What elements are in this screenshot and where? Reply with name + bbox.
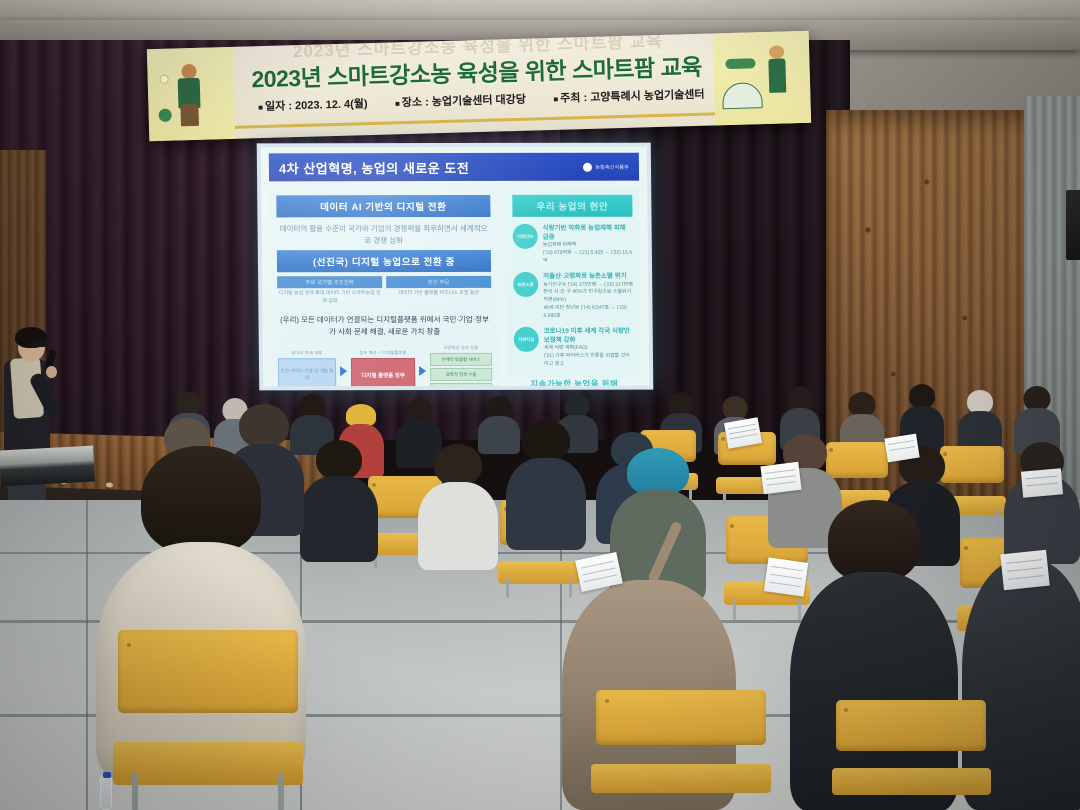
chair-seat xyxy=(832,768,991,794)
banner-underline xyxy=(235,112,715,128)
attendee-body xyxy=(418,482,498,570)
handout-paper[interactable] xyxy=(764,557,808,596)
bottle-cap-icon xyxy=(103,772,111,778)
left-panel-subheader: (선진국) 디지털 농업으로 전환 중 xyxy=(277,250,491,272)
chair-foreground-left[interactable] xyxy=(118,630,298,810)
subbox-header: 주요 국가별 추진전략 xyxy=(277,276,382,288)
flower-icon xyxy=(160,75,169,84)
bullet-body: 식량기반 악화로 농업재해 피해 급증 농업재해 피해액 ('19) 679억원… xyxy=(543,224,633,266)
projection-screen: 4차 산업혁명, 농업의 새로운 도전 농림축산식품부 데이터 AI 기반의 디… xyxy=(257,143,654,391)
bullet-icon: 식량자급 xyxy=(514,327,539,352)
event-banner: 2023년 스마트강소농 육성을 위한 스마트팜 교육 2023년 스마트강소농… xyxy=(147,31,811,141)
bullet-body: 저출산·고령화로 농촌소멸 위기 농가인구수 ('14) 275만명 → ('2… xyxy=(543,272,634,320)
water-bottle[interactable] xyxy=(100,776,112,810)
bullet-line: ('19) 679억원 → ('21) 5,425 → ('22) 15,4억 xyxy=(543,250,633,266)
bullet-line: 농업재해 피해액 xyxy=(543,242,633,250)
flow-step-1: 데이터 연계·개방 민관 데이터 연결 및 개방 확대 xyxy=(278,350,336,386)
right-panel-bullet: 농촌소멸 저출산·고령화로 농촌소멸 위기 농가인구수 ('14) 275만명 … xyxy=(513,272,634,320)
subbox-body: 디지털 농업 정책 확대 데이터 기반 스마트농업 정책 강화 xyxy=(277,288,382,307)
flow-caption-2: 정부 혁신 + 디지털플랫폼 xyxy=(351,350,415,356)
farmer2-body-icon xyxy=(768,58,786,92)
chair-leg xyxy=(132,774,138,810)
glasses-icon xyxy=(29,341,46,347)
bullet-marker-icon: ■ xyxy=(258,103,263,112)
bullet-title: 코로나19 이후 세계 각국 식량안보정책 강화 xyxy=(544,327,634,345)
attendee xyxy=(958,390,1002,454)
flow-step-2: 정부 혁신 + 디지털플랫폼 디지털 플랫폼 정부 xyxy=(351,350,415,387)
flow-step-3: 국민체감 성과 창출 선제적 맞춤형 서비스 과학적 정책 수립 혁신적 비즈니… xyxy=(430,345,493,386)
attendee xyxy=(300,440,378,560)
government-logo: 농림축산식품부 xyxy=(583,162,629,171)
flow-box-2: 디지털 플랫폼 정부 xyxy=(351,358,415,387)
chair-leg xyxy=(996,510,999,526)
yellow-cap-icon xyxy=(346,404,376,426)
slide: 4차 산업혁명, 농업의 새로운 도전 농림축산식품부 데이터 AI 기반의 디… xyxy=(261,147,650,387)
subbox: 주요 국가별 추진전략 디지털 농업 정책 확대 데이터 기반 스마트농업 정책… xyxy=(277,276,382,307)
attendee-head xyxy=(828,500,920,582)
bullet-marker-icon: ■ xyxy=(395,99,400,108)
attendee-head xyxy=(141,446,261,554)
banner-detail-host: ■주최 : 고양특례시 농업기술센터 xyxy=(553,86,705,106)
farmer-legs-icon xyxy=(180,104,199,126)
slide-title: 4차 산업혁명, 농업의 새로운 도전 xyxy=(279,157,469,176)
tree-icon xyxy=(159,109,172,122)
chair-foreground-right[interactable] xyxy=(836,700,986,810)
attendee-head xyxy=(316,440,362,480)
logo-text: 농림축산식품부 xyxy=(595,163,629,170)
flow-box-3-item: 선제적 맞춤형 서비스 xyxy=(430,353,492,366)
subbox: 민간 부문 데이터 기반 플랫폼 비즈니스 모델 등장 xyxy=(386,276,491,307)
flow-arrow-icon xyxy=(419,366,426,376)
flow-box-3-item: 과학적 정책 수립 xyxy=(430,368,492,381)
attendee-body xyxy=(506,458,586,550)
slide-body: 데이터 AI 기반의 디지털 전환 데이터의 활용 수준이 국가와 기업의 경쟁… xyxy=(269,187,641,379)
chair-back xyxy=(118,630,298,713)
lectern xyxy=(0,446,95,487)
bullet-body: 코로나19 이후 세계 각국 식량안보정책 강화 세계 식량 계획(FAO) (… xyxy=(544,327,634,369)
slide-title-bar: 4차 산업혁명, 농업의 새로운 도전 농림축산식품부 xyxy=(269,153,639,182)
chair-seat xyxy=(591,764,771,793)
crops-icon xyxy=(725,58,755,69)
handout-paper[interactable] xyxy=(1021,468,1063,497)
bullet-line: ('21) 기후 바이러스가 인류를 위협할 것이라고 경고 xyxy=(544,353,634,369)
chair-leg xyxy=(506,578,509,598)
chair-leg xyxy=(723,490,726,504)
attendee-head xyxy=(434,444,482,486)
attendee xyxy=(418,444,498,568)
subbox-body: 데이터 기반 플랫폼 비즈니스 모델 등장 xyxy=(386,288,491,300)
bullet-marker-icon: ■ xyxy=(553,94,558,103)
right-panel-bullet: 식량자급 코로나19 이후 세계 각국 식량안보정책 강화 세계 식량 계획(F… xyxy=(514,327,634,369)
handout-paper[interactable] xyxy=(1000,550,1050,591)
bullet-icon: 식량안보 xyxy=(513,224,538,249)
banner-detail-date: ■일자 : 2023. 12. 4(월) xyxy=(258,95,368,114)
chair-leg xyxy=(278,774,284,810)
closing-line-1: 지속가능한 농업을 위해 xyxy=(514,377,634,386)
bullet-title: 식량기반 악화로 농업재해 피해 급증 xyxy=(543,224,633,242)
attendee-head xyxy=(522,420,570,462)
bullet-title: 저출산·고령화로 농촌소멸 위기 xyxy=(543,272,633,281)
greenhouse-icon xyxy=(722,82,763,109)
teal-beret-icon xyxy=(627,448,689,496)
flow-box-3-item: 혁신적 비즈니스 창출 xyxy=(430,383,492,386)
chair-foreground-center[interactable] xyxy=(596,690,766,810)
left-panel-header: 데이터 AI 기반의 디지털 전환 xyxy=(276,195,490,217)
flow-arrow-icon xyxy=(340,366,347,376)
slide-right-panel: 우리 농업의 현안 식량안보 식량기반 악화로 농업재해 피해 급증 농업재해 … xyxy=(505,187,641,378)
banner-detail-place: ■장소 : 농업기술센터 대강당 xyxy=(395,91,526,111)
bullet-line: 40세 미만 청년농 ('14) 8,547호 → ('19) 6,895호 xyxy=(543,304,633,320)
attendee xyxy=(1004,442,1080,562)
wall-speaker xyxy=(1066,190,1080,260)
bullet-line: 전국 시·군·구 46%가 인구감소로 소멸위기 직면(84%) xyxy=(543,289,633,305)
lecture-hall-photo: 2023년 스마트강소농 육성을 위한 스마트팜 교육 2023년 스마트강소농… xyxy=(0,0,1080,810)
subbox-header: 민간 부문 xyxy=(386,276,491,288)
chair-back xyxy=(596,690,766,745)
left-panel-note: (우리) 모든 데이터가 연결되는 디지털플랫폼 위에서 국민·기업·정부가 사… xyxy=(277,314,491,338)
presenter-hand xyxy=(46,366,57,378)
right-panel-header: 우리 농업의 현안 xyxy=(512,195,632,217)
attendee xyxy=(506,420,586,548)
attendee-head xyxy=(239,404,289,448)
flow-diagram: 데이터 연계·개방 민관 데이터 연결 및 개방 확대 정부 혁신 + 디지털플… xyxy=(278,345,493,386)
flow-box-1: 민관 데이터 연결 및 개방 확대 xyxy=(278,358,336,386)
chair-seat xyxy=(113,742,304,785)
handout-paper[interactable] xyxy=(884,434,919,463)
flow-caption-3: 국민체감 성과 창출 xyxy=(430,345,492,351)
bullet-icon: 농촌소멸 xyxy=(513,272,538,297)
logo-mark-icon xyxy=(583,162,592,171)
right-panel-closing: 지속가능한 농업을 위해 빅데이터 AI가 유력한 대안으로 부상 xyxy=(514,377,634,386)
left-panel-subboxes: 주요 국가별 추진전략 디지털 농업 정책 확대 데이터 기반 스마트농업 정책… xyxy=(277,276,491,307)
handout-paper[interactable] xyxy=(760,462,801,494)
attendee-body xyxy=(300,476,378,562)
flow-box-3-group: 선제적 맞춤형 서비스 과학적 정책 수립 혁신적 비즈니스 창출 xyxy=(430,353,492,386)
right-panel-bullet: 식량안보 식량기반 악화로 농업재해 피해 급증 농업재해 피해액 ('19) … xyxy=(513,224,633,266)
chair-back xyxy=(836,700,986,751)
left-panel-body: 데이터의 활용 수준이 국가와 기업의 경쟁력을 좌우하면서 세계적으로 경쟁 … xyxy=(276,217,490,251)
slide-left-panel: 데이터 AI 기반의 디지털 전환 데이터의 활용 수준이 국가와 기업의 경쟁… xyxy=(269,187,499,378)
flow-caption-1: 데이터 연계·개방 xyxy=(278,350,336,356)
